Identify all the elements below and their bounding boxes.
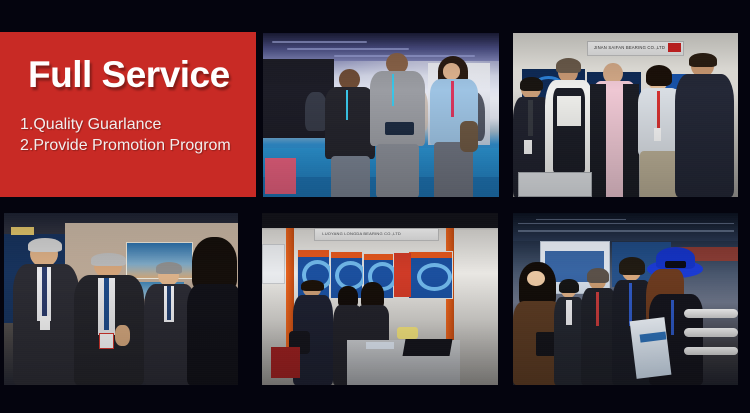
photo-blue-hat: [513, 213, 738, 385]
service-list-item-1: 1.Quality Guarlance: [20, 114, 231, 135]
photo-grain: [513, 213, 738, 385]
photo-grain: [263, 33, 499, 197]
photo-suit-talk: [4, 213, 238, 385]
service-list: 1.Quality Guarlance 2.Provide Promotion …: [20, 114, 231, 156]
photo-expo-trio: [263, 33, 499, 197]
full-service-promo-panel: Full Service 1.Quality Guarlance 2.Provi…: [0, 32, 256, 197]
photo-booth-visit: LUOYANG LONGDA BEARING CO.,LTD: [262, 213, 498, 385]
photo-tile-suit-talk[interactable]: [4, 213, 238, 385]
photo-tile-blue-hat[interactable]: [513, 213, 738, 385]
gallery-banner: Full Service 1.Quality Guarlance 2.Provi…: [0, 0, 750, 413]
photo-group-booth: JINAN SAIFAN BEARING CO.,LTD Forum: [513, 33, 738, 197]
photo-tile-group-booth[interactable]: JINAN SAIFAN BEARING CO.,LTD Forum: [513, 33, 738, 197]
photo-grain: [513, 33, 738, 197]
photo-grain: [4, 213, 238, 385]
service-list-item-2: 2.Provide Promotion Progrom: [20, 135, 231, 156]
photo-tile-booth-visit[interactable]: LUOYANG LONGDA BEARING CO.,LTD: [262, 213, 498, 385]
photo-tile-expo-trio[interactable]: [263, 33, 499, 197]
page-title: Full Service: [28, 54, 230, 96]
photo-grain: [262, 213, 498, 385]
